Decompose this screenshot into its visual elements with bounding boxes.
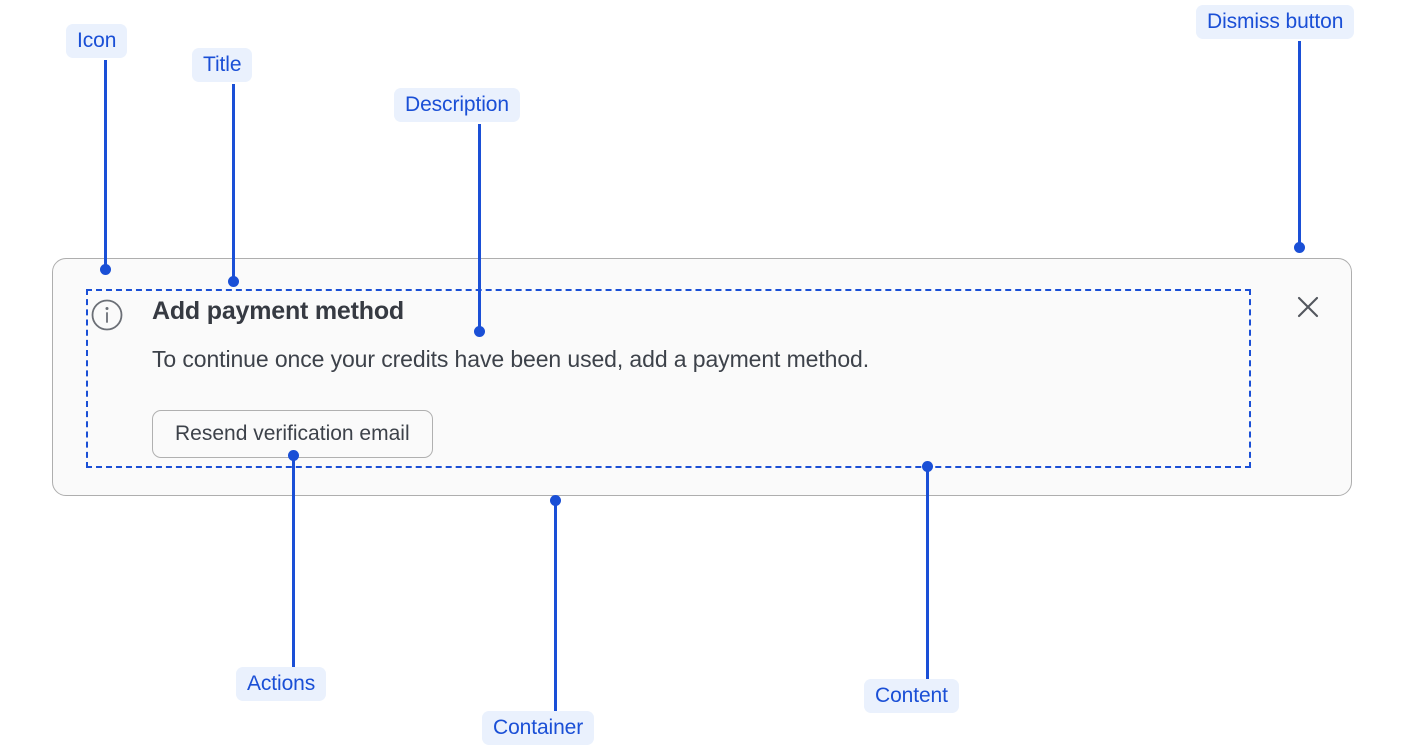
info-circle-icon	[90, 298, 124, 332]
leader-dot-content	[922, 461, 933, 472]
leader-line-title	[232, 84, 235, 281]
leader-dot-icon	[100, 264, 111, 275]
annotation-label-container: Container	[482, 711, 594, 745]
leader-line-description	[478, 124, 481, 331]
annotation-label-actions: Actions	[236, 667, 326, 701]
alert-container: Add payment method To continue once your…	[52, 258, 1352, 496]
annotation-label-icon: Icon	[66, 24, 127, 58]
alert-title: Add payment method	[152, 297, 404, 326]
leader-dot-container	[550, 495, 561, 506]
leader-line-actions	[292, 460, 295, 667]
leader-line-dismiss-button	[1298, 41, 1301, 248]
leader-dot-description	[474, 326, 485, 337]
close-icon	[1295, 294, 1321, 323]
annotation-label-title: Title	[192, 48, 252, 82]
annotation-canvas: Add payment method To continue once your…	[0, 0, 1408, 748]
leader-line-container	[554, 505, 557, 711]
dismiss-button[interactable]	[1291, 291, 1325, 325]
alert-description: To continue once your credits have been …	[152, 346, 869, 373]
leader-dot-actions	[288, 450, 299, 461]
annotation-label-dismiss-button: Dismiss button	[1196, 5, 1354, 39]
alert-content: Add payment method To continue once your…	[86, 289, 1251, 468]
leader-dot-title	[228, 276, 239, 287]
leader-line-icon	[104, 60, 107, 269]
annotation-label-description: Description	[394, 88, 520, 122]
leader-dot-dismiss-button	[1294, 242, 1305, 253]
annotation-label-content: Content	[864, 679, 959, 713]
leader-line-content	[926, 471, 929, 679]
